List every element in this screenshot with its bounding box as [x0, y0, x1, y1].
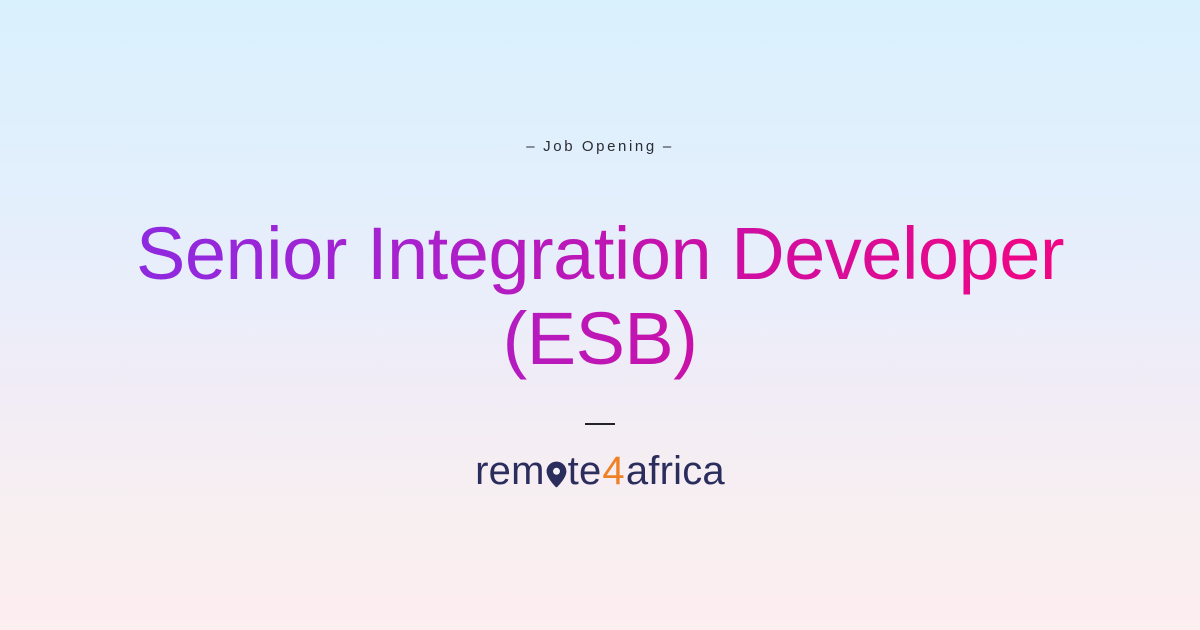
logo-segment-two: te	[568, 451, 602, 491]
location-pin-icon	[546, 461, 567, 488]
eyebrow-dash-left: –	[526, 139, 537, 154]
job-opening-share-card: –Job Opening– Senior Integration Develop…	[0, 0, 1200, 630]
job-title-heading: Senior Integration Developer (ESB)	[100, 212, 1100, 381]
eyebrow-label: –Job Opening–	[520, 139, 680, 154]
logo-segment-three: africa	[626, 451, 725, 491]
logo-accent-four: 4	[601, 451, 625, 491]
divider-rule	[585, 423, 615, 425]
eyebrow-dash-right: –	[663, 139, 674, 154]
remote4africa-logo: rem te 4 africa	[475, 451, 725, 491]
eyebrow-text: Job Opening	[543, 138, 657, 155]
logo-segment-one: rem	[475, 451, 545, 491]
